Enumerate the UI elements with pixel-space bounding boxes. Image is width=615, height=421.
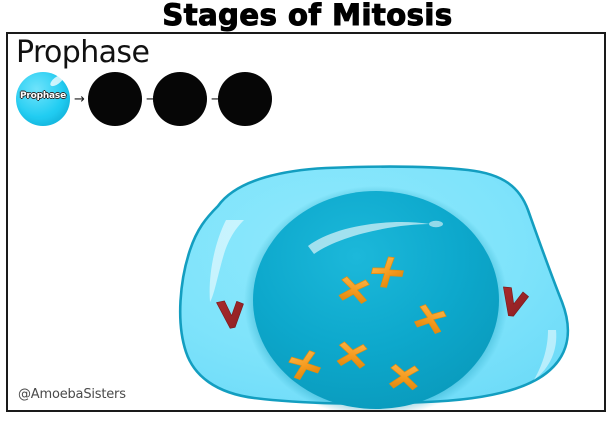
stage-node-prophase[interactable]: Prophase <box>16 72 70 126</box>
phase-heading: Prophase <box>16 36 149 70</box>
nucleus <box>244 186 508 412</box>
stage-arrow-1: → <box>74 93 85 106</box>
diagram-frame: Prophase Prophase → → → <box>6 32 606 412</box>
page-title: Stages of Mitosis <box>0 0 615 32</box>
animal-cell-illustration <box>118 118 606 412</box>
mitosis-illustration: Stages of Mitosis Prophase Prophase → → … <box>0 0 615 421</box>
stage-node-prophase-label: Prophase <box>16 91 70 101</box>
watermark: @AmoebaSisters <box>18 387 126 402</box>
